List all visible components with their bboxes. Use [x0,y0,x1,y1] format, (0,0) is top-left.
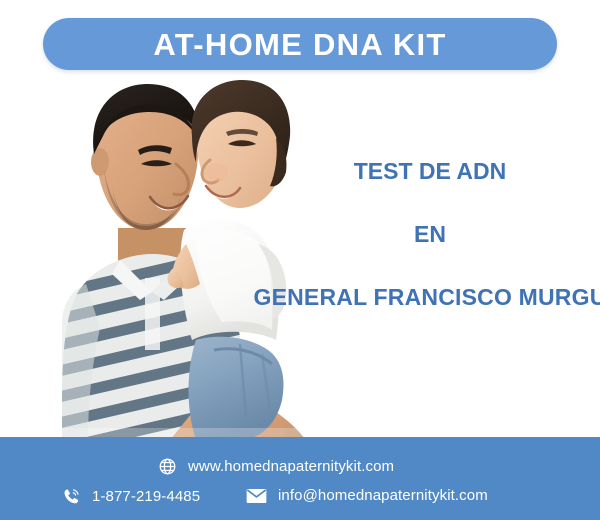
header-banner: AT-HOME DNA KIT [43,18,557,70]
footer-website-label: www.homednapaternitykit.com [188,458,394,475]
poster-root: AT-HOME DNA KIT [0,0,600,520]
headline-line-2: EN [240,223,600,246]
globe-icon [158,457,177,476]
footer-phone-label: 1-877-219-4485 [92,488,200,505]
footer-email[interactable]: info@homednapaternitykit.com [246,487,488,504]
footer-website[interactable]: www.homednapaternitykit.com [158,457,394,476]
headline-line-3: GENERAL FRANCISCO MURGU [240,286,600,309]
envelope-icon [246,488,267,504]
footer-email-label: info@homednapaternitykit.com [278,487,488,504]
footer-phone[interactable]: 1-877-219-4485 [62,487,200,506]
headline-line-1: TEST DE ADN [240,160,600,183]
page-title: AT-HOME DNA KIT [153,29,446,60]
phone-icon [62,487,81,506]
headline-block: TEST DE ADN EN GENERAL FRANCISCO MURGU [240,160,600,309]
footer-contact-bar: www.homednapaternitykit.com 1-877-219-44… [0,437,600,520]
